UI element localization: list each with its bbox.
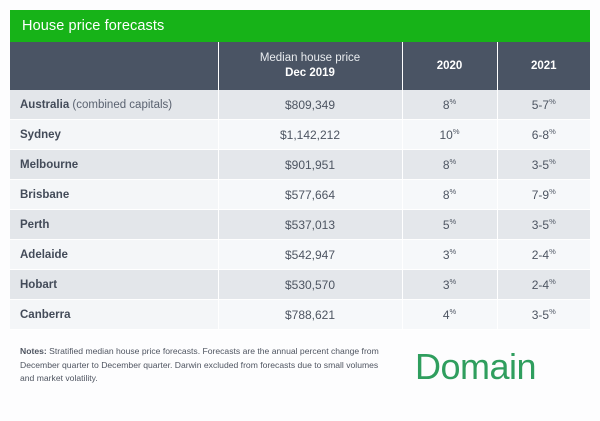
cell-2021: 3-5%: [497, 210, 590, 240]
cell-2021: 2-4%: [497, 270, 590, 300]
percent-sign: %: [450, 307, 457, 316]
percent-sign: %: [549, 187, 556, 196]
value-2021: 6-8: [532, 128, 549, 142]
column-header-2020: 2020: [402, 42, 497, 90]
value-2020: 10: [439, 128, 452, 142]
table-row: Adelaide $542,947 3% 2-4%: [10, 240, 590, 270]
region-name: Perth: [20, 219, 49, 231]
page-title: House price forecasts: [22, 18, 164, 34]
percent-sign: %: [549, 247, 556, 256]
cell-median-price: $788,621: [218, 300, 402, 330]
notes-text: Notes: Stratified median house price for…: [20, 345, 380, 386]
notes-body: Stratified median house price forecasts.…: [20, 346, 379, 383]
cell-region: Hobart: [10, 270, 218, 300]
cell-2021: 6-8%: [497, 120, 590, 150]
table-row: Hobart $530,570 3% 2-4%: [10, 270, 590, 300]
table-header: Median house price Dec 2019 2020 2021: [10, 42, 590, 90]
region-name: Canberra: [20, 309, 71, 321]
brand-logo: Domain: [415, 345, 580, 387]
percent-sign: %: [549, 217, 556, 226]
cell-2020: 5%: [402, 210, 497, 240]
notes-label: Notes:: [20, 346, 47, 356]
region-name: Sydney: [20, 129, 61, 141]
cell-region: Adelaide: [10, 240, 218, 270]
table-row: Brisbane $577,664 8% 7-9%: [10, 180, 590, 210]
percent-sign: %: [450, 187, 457, 196]
cell-median-price: $577,664: [218, 180, 402, 210]
cell-2021: 3-5%: [497, 150, 590, 180]
value-2020: 3: [443, 248, 450, 262]
table-row: Sydney $1,142,212 10% 6-8%: [10, 120, 590, 150]
value-2020: 4: [443, 308, 450, 322]
percent-sign: %: [450, 217, 457, 226]
cell-region: Canberra: [10, 300, 218, 330]
table-header-row: Median house price Dec 2019 2020 2021: [10, 42, 590, 90]
column-header-median-price: Median house price Dec 2019: [218, 42, 402, 90]
cell-median-price: $809,349: [218, 90, 402, 120]
table-body: Australia (combined capitals) $809,349 8…: [10, 90, 590, 330]
cell-2020: 8%: [402, 150, 497, 180]
region-name: Brisbane: [20, 189, 69, 201]
cell-2020: 4%: [402, 300, 497, 330]
value-2020: 5: [443, 218, 450, 232]
value-2021: 7-9: [532, 188, 549, 202]
column-header-region: [10, 42, 218, 90]
cell-2021: 5-7%: [497, 90, 590, 120]
table-row: Perth $537,013 5% 3-5%: [10, 210, 590, 240]
cell-2020: 10%: [402, 120, 497, 150]
value-2020: 8: [443, 98, 450, 112]
value-2021: 2-4: [532, 248, 549, 262]
cell-2021: 3-5%: [497, 300, 590, 330]
region-qualifier: (combined capitals): [69, 99, 172, 111]
percent-sign: %: [450, 277, 457, 286]
cell-median-price: $901,951: [218, 150, 402, 180]
percent-sign: %: [549, 127, 556, 136]
cell-2020: 8%: [402, 180, 497, 210]
forecast-card: House price forecasts Median house price…: [10, 10, 590, 330]
house-price-forecast-table: Median house price Dec 2019 2020 2021 Au…: [10, 42, 590, 330]
value-2020: 8: [443, 188, 450, 202]
cell-2021: 7-9%: [497, 180, 590, 210]
column-header-median-price-line2: Dec 2019: [219, 66, 402, 81]
percent-sign: %: [450, 247, 457, 256]
value-2020: 3: [443, 278, 450, 292]
region-name: Hobart: [20, 279, 57, 291]
table-row: Canberra $788,621 4% 3-5%: [10, 300, 590, 330]
footer: Notes: Stratified median house price for…: [20, 345, 580, 387]
percent-sign: %: [450, 97, 457, 106]
cell-median-price: $530,570: [218, 270, 402, 300]
percent-sign: %: [549, 157, 556, 166]
value-2021: 3-5: [532, 308, 549, 322]
column-header-2021: 2021: [497, 42, 590, 90]
cell-median-price: $542,947: [218, 240, 402, 270]
cell-2021: 2-4%: [497, 240, 590, 270]
percent-sign: %: [450, 157, 457, 166]
domain-logo-text: Domain: [415, 347, 536, 387]
cell-region: Australia (combined capitals): [10, 90, 218, 120]
cell-region: Perth: [10, 210, 218, 240]
value-2021: 2-4: [532, 278, 549, 292]
region-name: Australia: [20, 99, 69, 111]
percent-sign: %: [549, 97, 556, 106]
cell-2020: 3%: [402, 240, 497, 270]
region-name: Adelaide: [20, 249, 68, 261]
cell-2020: 3%: [402, 270, 497, 300]
cell-median-price: $1,142,212: [218, 120, 402, 150]
value-2021: 3-5: [532, 218, 549, 232]
table-row: Melbourne $901,951 8% 3-5%: [10, 150, 590, 180]
value-2020: 8: [443, 158, 450, 172]
card-title-bar: House price forecasts: [10, 10, 590, 42]
cell-region: Sydney: [10, 120, 218, 150]
value-2021: 5-7: [532, 98, 549, 112]
percent-sign: %: [453, 127, 460, 136]
percent-sign: %: [549, 307, 556, 316]
cell-median-price: $537,013: [218, 210, 402, 240]
cell-region: Melbourne: [10, 150, 218, 180]
table-row: Australia (combined capitals) $809,349 8…: [10, 90, 590, 120]
column-header-median-price-line1: Median house price: [219, 51, 402, 66]
cell-2020: 8%: [402, 90, 497, 120]
region-name: Melbourne: [20, 159, 78, 171]
percent-sign: %: [549, 277, 556, 286]
value-2021: 3-5: [532, 158, 549, 172]
cell-region: Brisbane: [10, 180, 218, 210]
